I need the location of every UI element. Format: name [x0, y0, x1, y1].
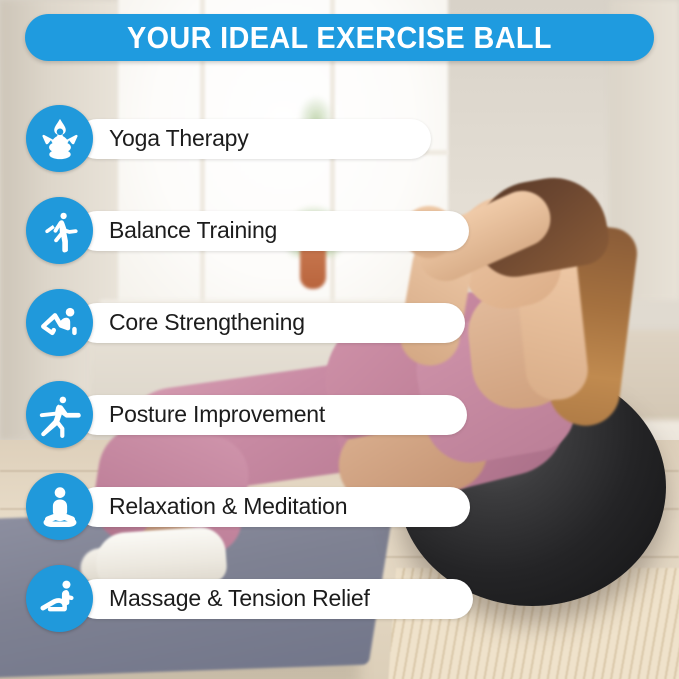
- feature-row-posture-improvement[interactable]: Posture Improvement: [26, 381, 467, 448]
- massage-therapy-icon: [26, 565, 93, 632]
- feature-label: Relaxation & Meditation: [109, 493, 347, 520]
- feature-label-pill: Massage & Tension Relief: [77, 579, 473, 619]
- page-title: YOUR IDEAL EXERCISE BALL: [127, 20, 552, 56]
- posture-warrior-pose-icon: [26, 381, 93, 448]
- product-feature-graphic: YOUR IDEAL EXERCISE BALL Yoga Therapy Ba…: [0, 0, 679, 679]
- feature-row-massage-tension-relief[interactable]: Massage & Tension Relief: [26, 565, 473, 632]
- feature-label-pill: Core Strengthening: [77, 303, 465, 343]
- feature-label: Massage & Tension Relief: [109, 585, 370, 612]
- balance-dancer-pose-icon: [26, 197, 93, 264]
- feature-label-pill: Relaxation & Meditation: [77, 487, 470, 527]
- meditation-seated-icon: [26, 473, 93, 540]
- feature-row-yoga-therapy[interactable]: Yoga Therapy: [26, 105, 431, 172]
- feature-label: Core Strengthening: [109, 309, 305, 336]
- feature-label: Posture Improvement: [109, 401, 325, 428]
- feature-label-pill: Balance Training: [77, 211, 469, 251]
- feature-label: Yoga Therapy: [109, 125, 249, 152]
- title-banner: YOUR IDEAL EXERCISE BALL: [25, 14, 654, 61]
- yoga-lotus-arms-up-icon: [26, 105, 93, 172]
- core-crunch-situp-icon: [26, 289, 93, 356]
- feature-label-pill: Yoga Therapy: [77, 119, 431, 159]
- feature-label-pill: Posture Improvement: [77, 395, 467, 435]
- feature-row-core-strengthening[interactable]: Core Strengthening: [26, 289, 465, 356]
- feature-row-balance-training[interactable]: Balance Training: [26, 197, 469, 264]
- feature-row-relaxation-meditation[interactable]: Relaxation & Meditation: [26, 473, 470, 540]
- feature-label: Balance Training: [109, 217, 277, 244]
